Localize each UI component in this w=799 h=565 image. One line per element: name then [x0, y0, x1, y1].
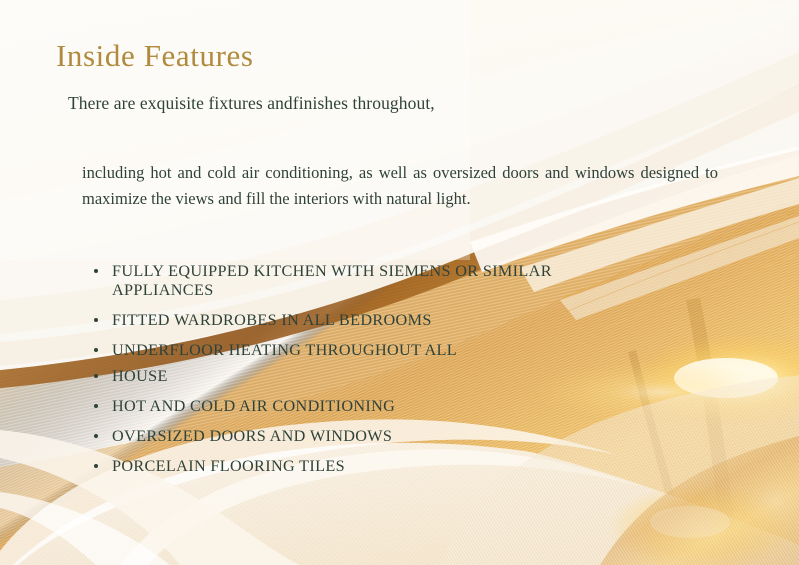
body-paragraph: including hot and cold air conditioning,…: [82, 160, 718, 212]
bullet-dot-icon: [94, 374, 98, 378]
list-item-line1: FULLY EQUIPPED KITCHEN WITH SIEMENS OR S…: [112, 262, 552, 280]
list-item-line1: HOUSE: [112, 367, 168, 385]
bullet-dot-icon: [94, 348, 98, 352]
bullet-dot-icon: [94, 404, 98, 408]
list-item-line1: PORCELAIN FLOORING TILES: [112, 457, 345, 475]
bullet-dot-icon: [94, 434, 98, 438]
bullet-dot-icon: [94, 464, 98, 468]
bullet-dot-icon: [94, 318, 98, 322]
slide-content: Inside Features There are exquisite fixt…: [0, 0, 799, 565]
slide-inside-features: Inside Features There are exquisite fixt…: [0, 0, 799, 565]
list-item-line1: HOT AND COLD AIR CONDITIONING: [112, 397, 395, 415]
list-item-line1: OVERSIZED DOORS AND WINDOWS: [112, 427, 392, 445]
bullet-dot-icon: [94, 269, 98, 273]
list-item: FITTED WARDROBES IN ALL BEDROOMS: [90, 311, 730, 330]
page-title: Inside Features: [56, 38, 254, 74]
list-item: OVERSIZED DOORS AND WINDOWS: [90, 427, 730, 446]
list-item: HOT AND COLD AIR CONDITIONING: [90, 397, 730, 416]
list-item: HOUSE: [90, 367, 730, 386]
subtitle-text: There are exquisite fixtures andfinishes…: [68, 93, 435, 114]
features-list: FULLY EQUIPPED KITCHEN WITH SIEMENS OR S…: [90, 262, 730, 487]
list-item: UNDERFLOOR HEATING THROUGHOUT ALL: [90, 341, 730, 360]
list-item-line2: APPLIANCES: [112, 281, 730, 300]
list-item-line1: FITTED WARDROBES IN ALL BEDROOMS: [112, 311, 432, 329]
list-item: FULLY EQUIPPED KITCHEN WITH SIEMENS OR S…: [90, 262, 730, 300]
list-item: PORCELAIN FLOORING TILES: [90, 457, 730, 476]
list-item-line1: UNDERFLOOR HEATING THROUGHOUT ALL: [112, 341, 457, 359]
